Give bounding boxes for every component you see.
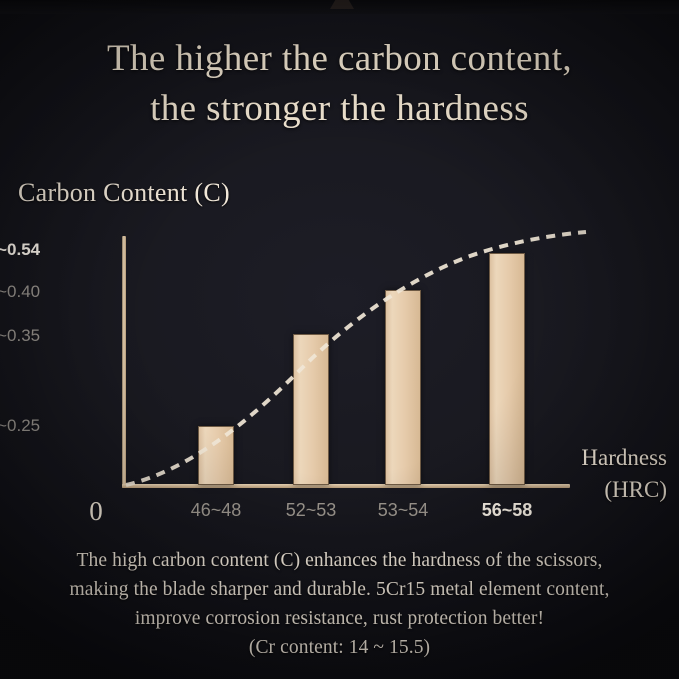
- bar-52-53: [293, 334, 329, 485]
- x-origin-label: 0: [78, 496, 114, 527]
- caption-line-3: improve corrosion resistance, rust prote…: [0, 604, 679, 633]
- y-tick-label-2: 0.26~0.35: [0, 326, 124, 346]
- y-axis-line: [122, 236, 126, 488]
- x-tick-label-3: 56~58: [447, 500, 567, 521]
- y-tick-label-0: 0.46~0.54: [0, 240, 124, 260]
- bar-56-58: [489, 253, 525, 485]
- caption-line-2: making the blade sharper and durable. 5C…: [0, 575, 679, 604]
- caption-line-4: (Cr content: 14 ~ 15.5): [0, 633, 679, 662]
- x-tick-label-2: 53~54: [343, 500, 463, 521]
- caption-block: The high carbon content (C) enhances the…: [0, 546, 679, 662]
- poster-root: The higher the carbon content, the stron…: [0, 0, 679, 679]
- bar-53-54: [385, 290, 421, 485]
- caption-line-1: The high carbon content (C) enhances the…: [0, 546, 679, 575]
- bar-46-48: [198, 426, 234, 485]
- y-tick-label-1: 0.27~0.40: [0, 282, 124, 302]
- y-tick-label-3: 0.16~0.25: [0, 416, 124, 436]
- y-axis-title: Carbon Content (C): [18, 178, 230, 208]
